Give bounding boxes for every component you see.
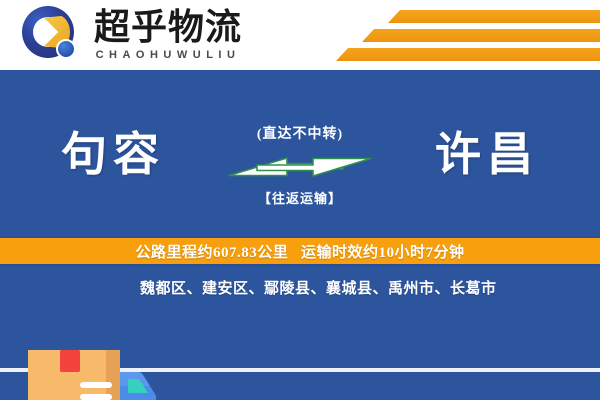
route-row: 句容 (直达不中转) 【往返运输】 许昌 [0, 110, 600, 225]
delivery-truck-icon [22, 342, 167, 400]
speed-stripe-3 [336, 48, 600, 61]
distance-duration-text: 公路里程约607.83公里 运输时效约10小时7分钟 [135, 241, 464, 262]
route-note-roundtrip: 【往返运输】 [225, 192, 375, 205]
speed-stripe-2 [362, 29, 600, 42]
main-blue-panel: 句容 (直达不中转) 【往返运输】 许昌 公路里程约607.83公 [0, 70, 600, 400]
circle-crescent-logo-icon [22, 6, 82, 64]
brand-name-en: CHAOHUWULIU [94, 49, 242, 61]
destination-city: 许昌 [382, 130, 592, 181]
coverage-areas-row: 魏都区、建安区、鄢陵县、襄城县、禹州市、长葛市 [140, 276, 590, 302]
coverage-areas-text: 魏都区、建安区、鄢陵县、襄城县、禹州市、长葛市 [140, 280, 497, 298]
route-middle-group: (直达不中转) 【往返运输】 [225, 110, 375, 220]
brand-text-block: 超乎物流 CHAOHUWULIU [94, 9, 242, 62]
route-note-direct: (直达不中转) [225, 110, 375, 142]
double-headed-arrow-icon [225, 149, 375, 185]
brand-logo-group: 超乎物流 CHAOHUWULIU [22, 6, 242, 64]
logistics-route-banner: 超乎物流 CHAOHUWULIU 句容 (直达不中转) [0, 0, 600, 400]
speed-stripe-1 [388, 10, 600, 23]
distance-duration-bar: 公路里程约607.83公里 运输时效约10小时7分钟 [0, 236, 600, 266]
brand-name-cn: 超乎物流 [94, 9, 242, 47]
speed-stripes-icon [310, 8, 600, 64]
banner-header: 超乎物流 CHAOHUWULIU [0, 0, 600, 70]
origin-city: 句容 [8, 130, 218, 181]
logo-accent-dot [56, 39, 76, 59]
